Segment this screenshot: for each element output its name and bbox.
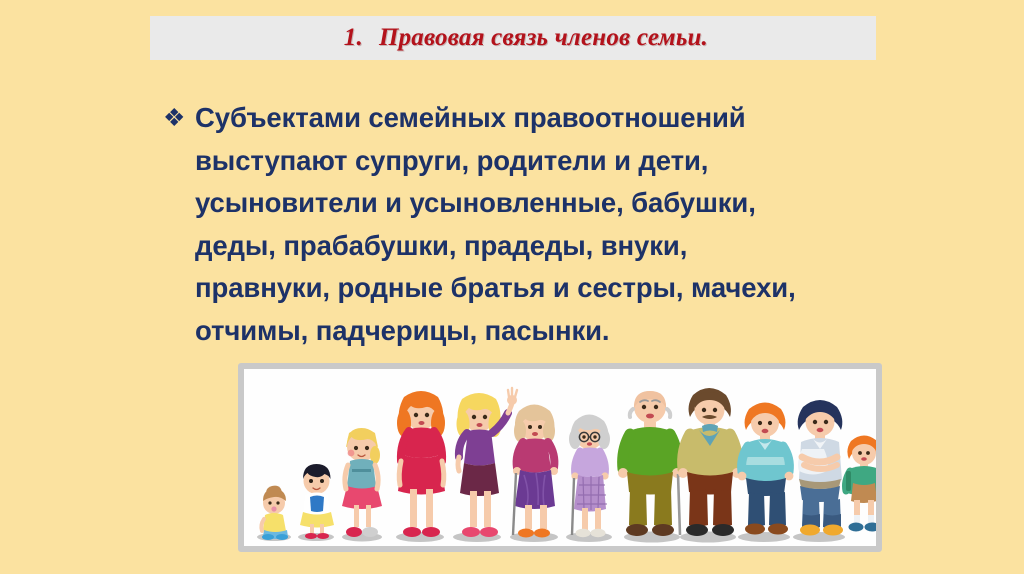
figure-man-with-mustache-tan-sweater bbox=[678, 388, 742, 536]
text-line: правнуки, родные братья и сестры, мачехи… bbox=[195, 267, 933, 310]
diamond-bullet-icon: ❖ bbox=[163, 97, 195, 140]
family-illustration-frame bbox=[238, 363, 882, 552]
content-text-block: ❖ Субъектами семейных правоотношений выс… bbox=[163, 97, 933, 352]
figure-girl-blonde-pink-skirt bbox=[342, 428, 382, 537]
walking-cane bbox=[572, 478, 574, 535]
text-line: выступают супруги, родители и дети, bbox=[195, 140, 933, 183]
figure-grandmother-with-glasses-cane bbox=[569, 415, 610, 538]
figure-older-woman-with-cane bbox=[513, 405, 558, 538]
text-line: отчимы, падчерицы, пасынки. bbox=[195, 310, 933, 353]
bullet-list-item: ❖ Субъектами семейных правоотношений выс… bbox=[163, 97, 933, 352]
title-label: Правовая связь членов семьи. bbox=[379, 24, 708, 51]
page-title: 1.Правовая связь членов семьи. bbox=[318, 0, 708, 80]
figure-grandfather-bald-green-sweater bbox=[618, 391, 682, 536]
walking-cane bbox=[678, 474, 680, 535]
figure-young-girl-black-hair bbox=[300, 464, 334, 539]
title-number: 1. bbox=[344, 24, 363, 51]
walking-cane bbox=[513, 473, 516, 535]
waving-hand bbox=[507, 388, 517, 405]
text-line: деды, прабабушки, прадеды, внуки, bbox=[195, 225, 933, 268]
family-generations-svg bbox=[244, 369, 876, 546]
figure-young-man-ginger-teal-shirt bbox=[738, 403, 794, 535]
text-line: Субъектами семейных правоотношений bbox=[195, 97, 933, 140]
slide-title-bar: 1.Правовая связь членов семьи. bbox=[150, 16, 876, 60]
family-illustration bbox=[244, 369, 876, 546]
figure-woman-red-hair-red-dress bbox=[397, 391, 445, 537]
bullet-text-body: Субъектами семейных правоотношений высту… bbox=[195, 97, 933, 352]
figure-boy-with-backpack bbox=[846, 436, 877, 532]
figure-woman-blonde-purple-skirt bbox=[457, 388, 518, 537]
figure-young-man-dark-hair-grey-shirt bbox=[798, 400, 843, 536]
text-line: усыновители и усыновленные, бабушки, bbox=[195, 182, 933, 225]
figure-toddler-girl-with-pacifier bbox=[261, 486, 288, 540]
backpack-strap bbox=[846, 471, 851, 491]
